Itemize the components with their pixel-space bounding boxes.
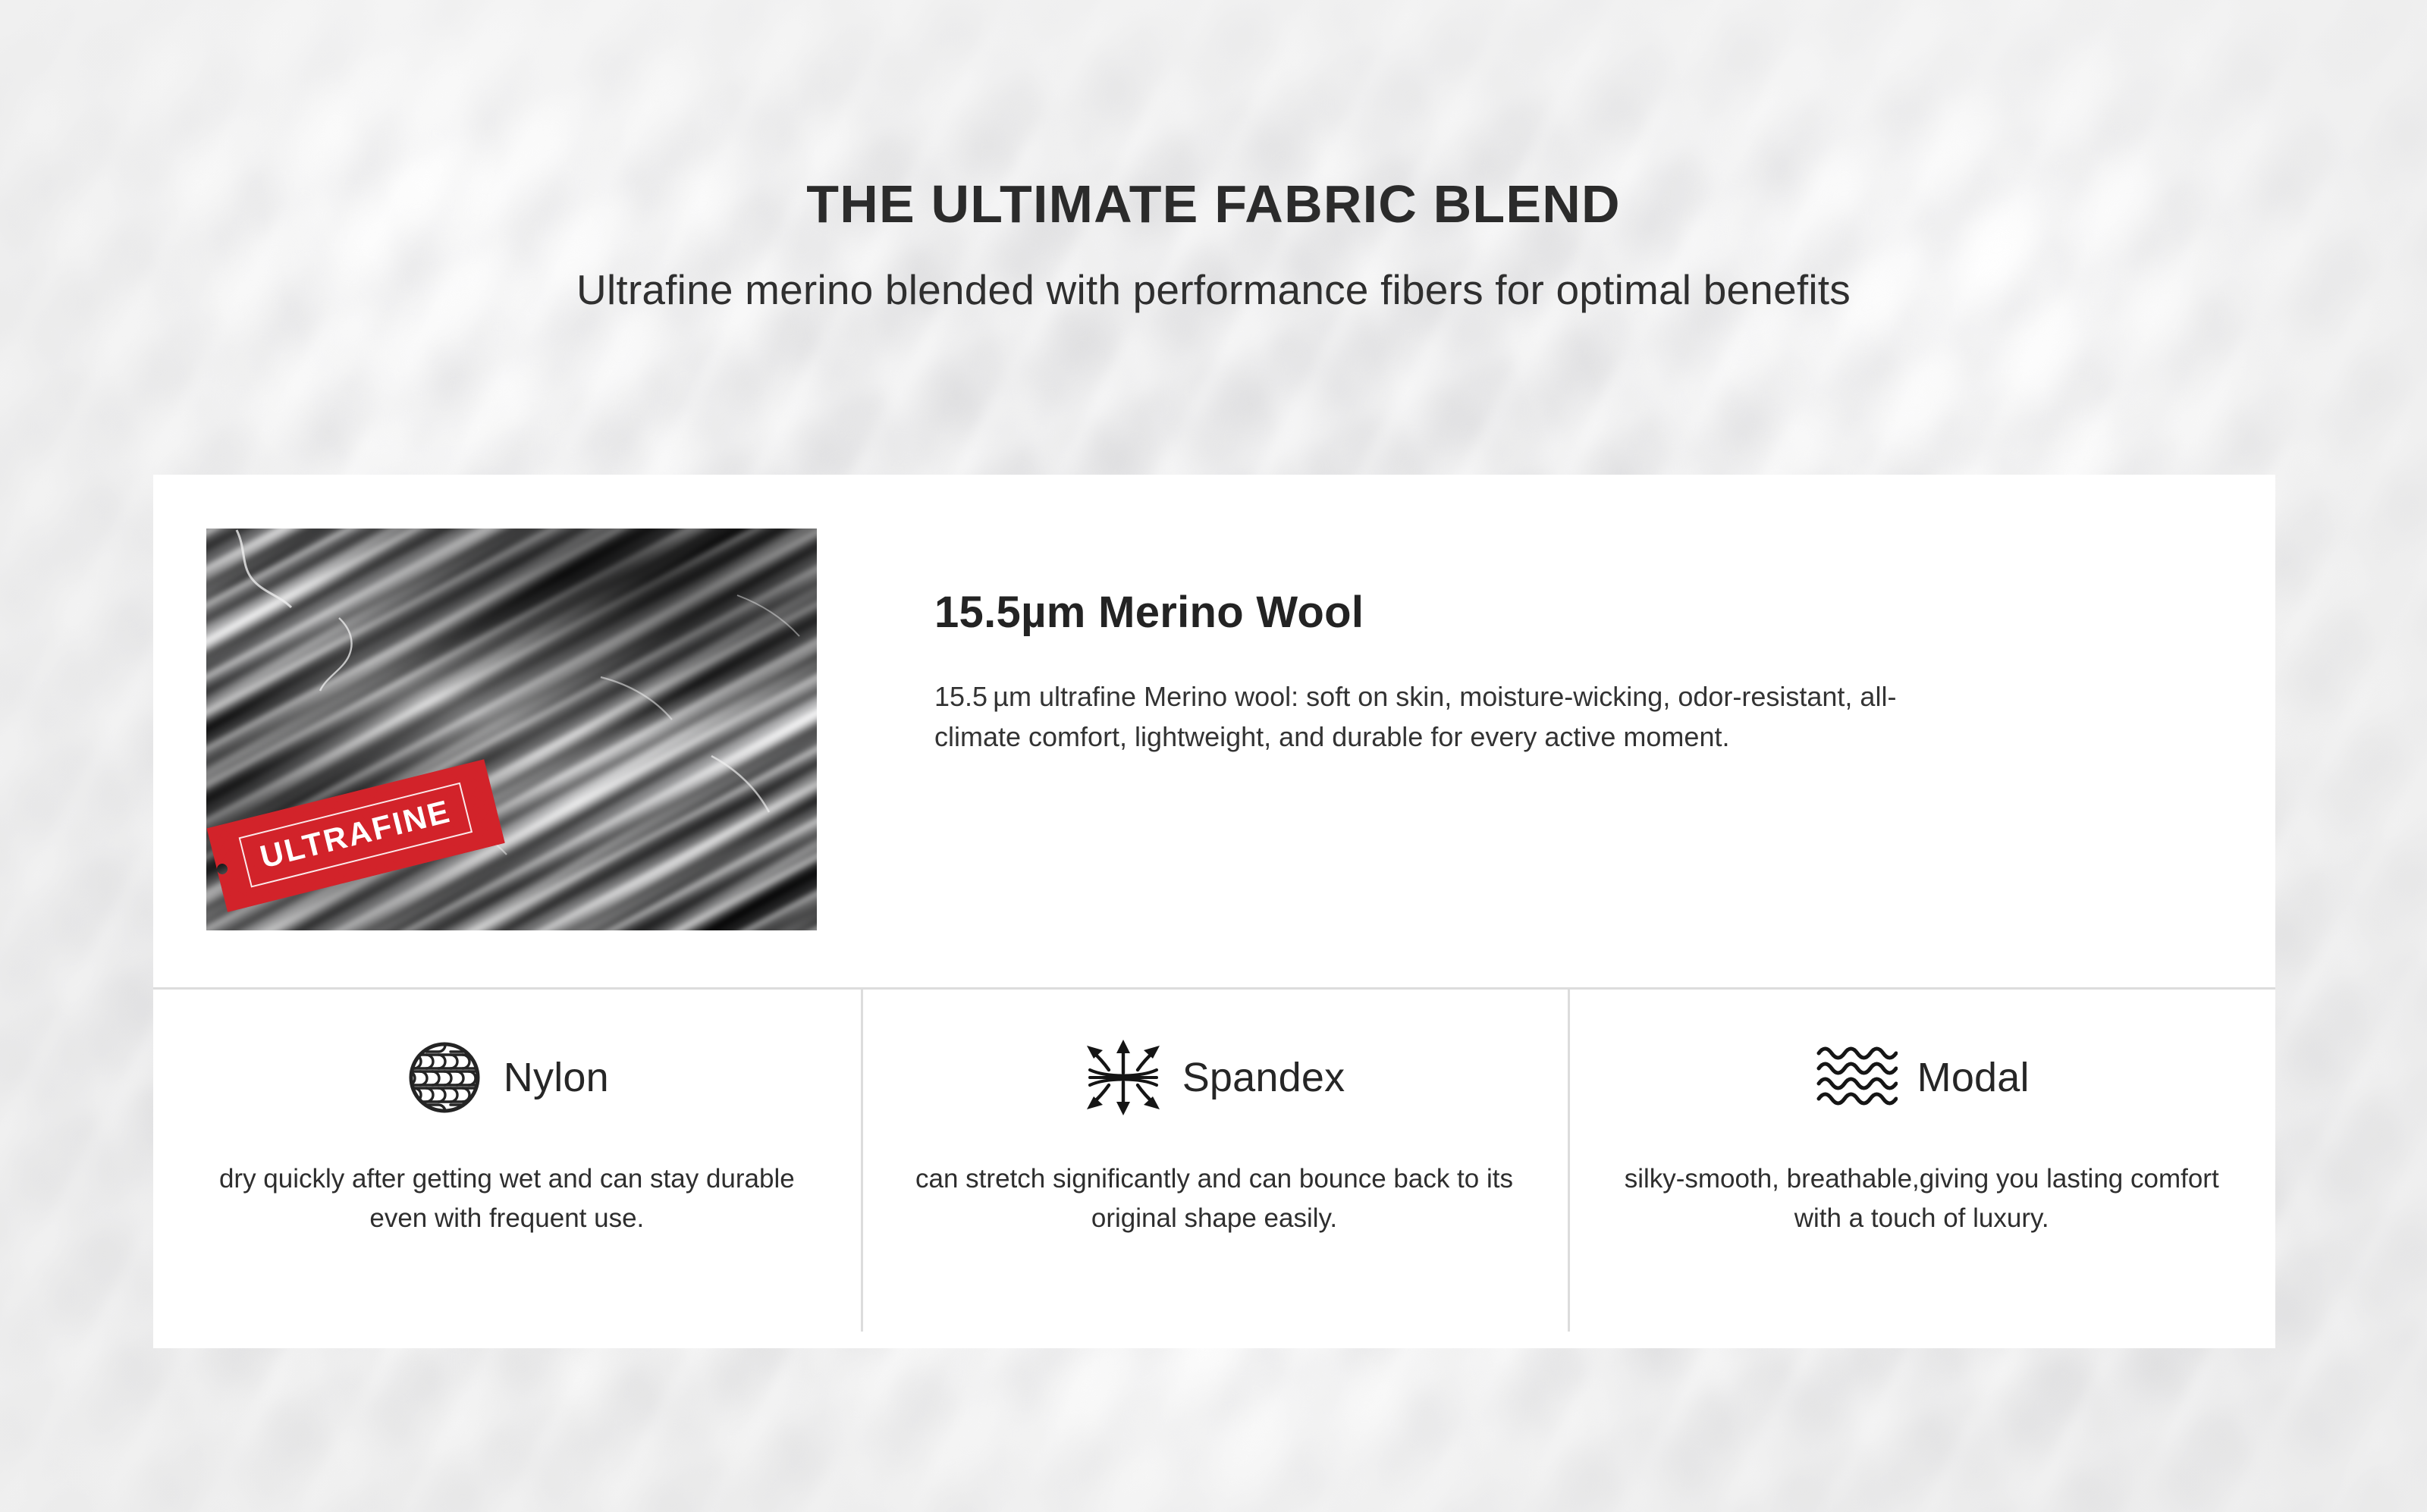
page-subtitle: Ultrafine merino blended with performanc… (0, 232, 2427, 313)
feature-heading-row: Spandex (896, 990, 1534, 1123)
feature-description: silky-smooth, breathable,giving you last… (1603, 1123, 2240, 1238)
hero-body-text: 15.5 µm ultrafine Merino wool: soft on s… (934, 637, 1913, 758)
hero-heading: 15.5µm Merino Wool (934, 588, 1913, 637)
stretch-arrows-icon (1084, 1038, 1163, 1117)
feature-heading-row: Nylon (188, 990, 826, 1123)
content-card: ULTRAFINE 15.5µm Merino Wool 15.5 µm ult… (153, 475, 2275, 1348)
feature-label: Nylon (504, 1057, 609, 1098)
woven-mesh-circle-icon (405, 1038, 484, 1117)
feature-modal: Modal silky-smooth, breathable,giving yo… (1568, 990, 2275, 1348)
feature-label: Spandex (1182, 1057, 1345, 1098)
feature-label: Modal (1917, 1057, 2030, 1098)
feature-description: can stretch significantly and can bounce… (896, 1123, 1534, 1238)
feature-row: Nylon dry quickly after getting wet and … (153, 990, 2275, 1348)
merino-fiber-image: ULTRAFINE (206, 529, 817, 930)
hero-row: ULTRAFINE 15.5µm Merino Wool 15.5 µm ult… (153, 475, 2275, 987)
hero-copy: 15.5µm Merino Wool 15.5 µm ultrafine Mer… (934, 588, 1913, 757)
infographic-stage: THE ULTIMATE FABRIC BLEND Ultrafine meri… (0, 0, 2427, 1512)
feature-spandex: Spandex can stretch significantly and ca… (861, 990, 1568, 1348)
page-title: THE ULTIMATE FABRIC BLEND (0, 176, 2427, 232)
feature-heading-row: Modal (1603, 990, 2240, 1123)
header-block: THE ULTIMATE FABRIC BLEND Ultrafine meri… (0, 176, 2427, 313)
feature-nylon: Nylon dry quickly after getting wet and … (153, 990, 861, 1348)
wavy-lines-icon (1814, 1041, 1898, 1114)
feature-description: dry quickly after getting wet and can st… (188, 1123, 826, 1238)
